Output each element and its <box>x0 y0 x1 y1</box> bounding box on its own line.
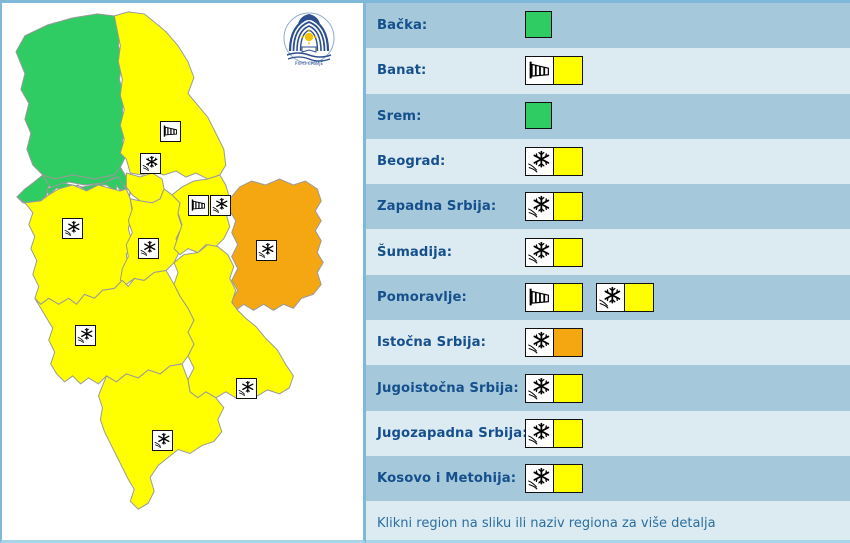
map-icon-zapadna-snow[interactable] <box>62 218 83 239</box>
warning-level-swatch <box>554 238 583 267</box>
region-warnings-istocna-srbija <box>525 328 583 357</box>
map-icon-kosovo-snow[interactable] <box>152 430 173 451</box>
region-warnings-jugoistocna-srbija <box>525 374 583 403</box>
region-row-jugoistocna-srbija[interactable]: Jugoistočna Srbija: <box>366 365 850 410</box>
warning-level-swatch <box>554 283 583 312</box>
region-warnings-banat <box>525 56 583 85</box>
region-warnings-jugozapadna-srbija <box>525 419 583 448</box>
region-warnings-backa <box>525 11 552 40</box>
region-warning-list: Bačka: Banat: <box>366 0 850 543</box>
warning-level-swatch <box>525 102 552 129</box>
map-icon-banat-wind[interactable] <box>160 121 181 142</box>
map-icon-jugoistocna-snow[interactable] <box>236 378 257 399</box>
snow-icon <box>525 374 554 403</box>
wind-icon <box>525 56 554 85</box>
map-region-zapadna[interactable] <box>17 185 132 304</box>
warning-chip[interactable] <box>525 11 552 40</box>
map-region-beograd[interactable] <box>126 173 164 203</box>
region-warnings-srem <box>525 102 552 131</box>
map-region-banat[interactable] <box>114 12 225 179</box>
serbia-map[interactable] <box>2 0 365 543</box>
warning-chip[interactable] <box>525 283 583 312</box>
warning-level-swatch <box>554 374 583 403</box>
warning-level-swatch <box>625 283 654 312</box>
warning-level-swatch <box>554 147 583 176</box>
region-row-backa[interactable]: Bačka: <box>366 3 850 48</box>
warning-chip[interactable] <box>525 192 583 221</box>
snow-icon <box>525 328 554 357</box>
warning-chip[interactable] <box>525 147 583 176</box>
warning-chip[interactable] <box>525 238 583 267</box>
warning-level-swatch <box>554 464 583 493</box>
region-label-pomoravlje[interactable]: Pomoravlje: <box>377 290 525 305</box>
map-region-backa[interactable] <box>16 14 126 179</box>
snow-icon <box>525 192 554 221</box>
map-pane: РХМЗ СРБИЈЕ <box>0 0 366 543</box>
warning-level-swatch <box>554 328 583 357</box>
snow-icon <box>525 147 554 176</box>
footer-hint-text: Klikni region na sliku ili naziv regiona… <box>377 516 716 531</box>
snow-icon <box>596 283 625 312</box>
map-icon-istocna-snow[interactable] <box>256 240 277 261</box>
region-label-banat[interactable]: Banat: <box>377 63 525 78</box>
footer-hint: Klikni region na sliku ili naziv regiona… <box>366 501 850 543</box>
region-row-pomoravlje[interactable]: Pomoravlje: <box>366 275 850 320</box>
region-label-beograd[interactable]: Beograd: <box>377 154 525 169</box>
warning-chip[interactable] <box>596 283 654 312</box>
rhmz-serbia-logo: РХМЗ СРБИЈЕ <box>278 11 340 69</box>
region-row-jugozapadna-srbija[interactable]: Jugozapadna Srbija: <box>366 411 850 456</box>
region-label-zapadna-srbija[interactable]: Zapadna Srbija: <box>377 199 525 214</box>
map-icon-pomoravlje-wind[interactable] <box>188 195 209 216</box>
region-warnings-pomoravlje <box>525 283 654 312</box>
region-row-zapadna-srbija[interactable]: Zapadna Srbija: <box>366 184 850 229</box>
region-warnings-sumadija <box>525 238 583 267</box>
region-label-backa[interactable]: Bačka: <box>377 18 525 33</box>
warning-chip[interactable] <box>525 464 583 493</box>
warning-chip[interactable] <box>525 374 583 403</box>
map-icon-pomoravlje-snow[interactable] <box>210 195 231 216</box>
snow-icon <box>525 238 554 267</box>
weather-warning-widget: РХМЗ СРБИЈЕ <box>0 0 850 543</box>
map-icon-sumadija-snow[interactable] <box>138 238 159 259</box>
warning-chip[interactable] <box>525 328 583 357</box>
region-label-istocna-srbija[interactable]: Istočna Srbija: <box>377 335 525 350</box>
warning-level-swatch <box>554 56 583 85</box>
warning-level-swatch <box>554 192 583 221</box>
region-label-jugozapadna-srbija[interactable]: Jugozapadna Srbija: <box>377 426 525 441</box>
region-label-kosovo-i-metohija[interactable]: Kosovo i Metohija: <box>377 471 525 486</box>
snow-icon <box>525 419 554 448</box>
wind-icon <box>525 283 554 312</box>
region-row-beograd[interactable]: Beograd: <box>366 139 850 184</box>
region-row-sumadija[interactable]: Šumadija: <box>366 229 850 274</box>
warning-level-swatch <box>525 11 552 38</box>
region-warnings-beograd <box>525 147 583 176</box>
region-row-srem[interactable]: Srem: <box>366 94 850 139</box>
logo-caption: РХМЗ СРБИЈЕ <box>295 61 324 66</box>
region-row-kosovo-i-metohija[interactable]: Kosovo i Metohija: <box>366 456 850 501</box>
map-icon-jugozapadna-snow[interactable] <box>75 325 96 346</box>
region-row-istocna-srbija[interactable]: Istočna Srbija: <box>366 320 850 365</box>
region-row-banat[interactable]: Banat: <box>366 48 850 93</box>
snow-icon <box>525 464 554 493</box>
region-warnings-zapadna-srbija <box>525 192 583 221</box>
warning-chip[interactable] <box>525 102 552 131</box>
region-warnings-kosovo-i-metohija <box>525 464 583 493</box>
region-label-srem[interactable]: Srem: <box>377 109 525 124</box>
map-icon-beograd-snow[interactable] <box>140 153 161 174</box>
warning-level-swatch <box>554 419 583 448</box>
region-label-jugoistocna-srbija[interactable]: Jugoistočna Srbija: <box>377 381 525 396</box>
region-label-sumadija[interactable]: Šumadija: <box>377 245 525 260</box>
warning-chip[interactable] <box>525 419 583 448</box>
warning-chip[interactable] <box>525 56 583 85</box>
